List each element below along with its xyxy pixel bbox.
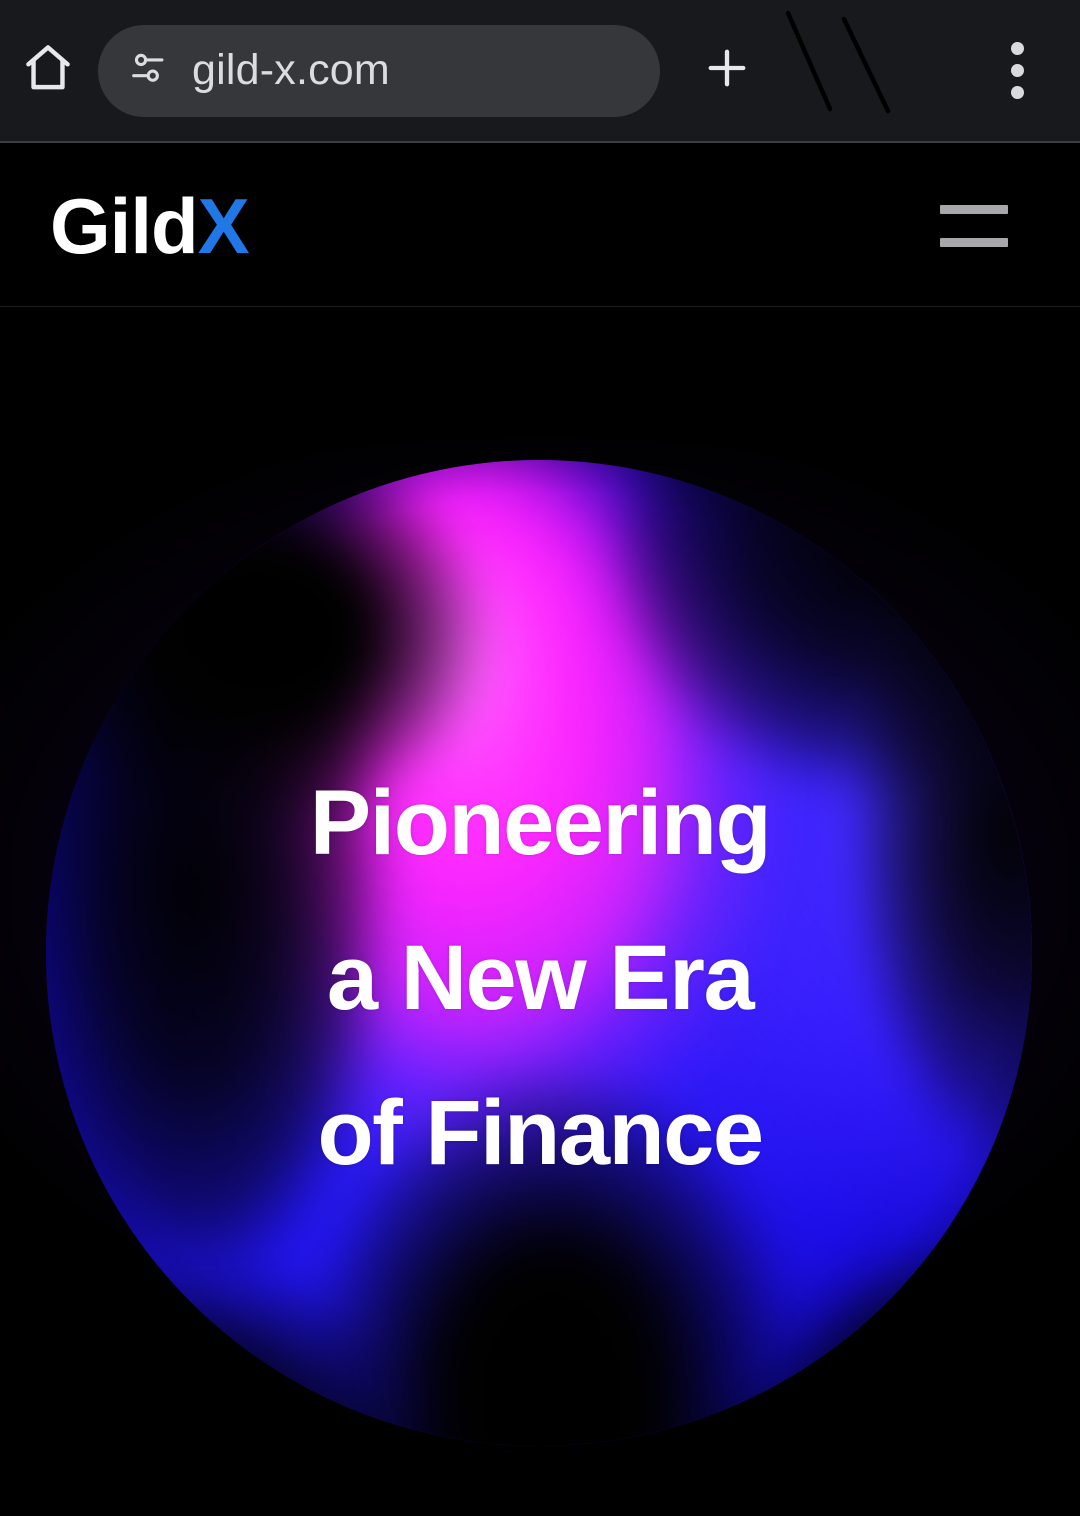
toolbar-right-group [660,0,1080,142]
gradient-globe [46,460,1032,1446]
menu-dot [1011,86,1024,99]
hero-section: Pioneering a New Era of Finance [0,308,1080,1516]
site-logo[interactable]: GildX [50,187,249,265]
browser-overflow-menu-button[interactable] [972,0,1062,142]
globe-limb-darkening [46,460,1032,1446]
home-icon [20,40,76,101]
new-tab-button[interactable] [682,0,772,142]
tab-switcher-strokes-icon [772,129,912,146]
address-bar[interactable]: gild-x.com [98,25,660,117]
hamburger-menu-icon[interactable] [940,196,1012,256]
site-header: GildX [0,145,1080,307]
logo-text-accent: X [198,182,249,270]
browser-toolbar: gild-x.com [0,0,1080,143]
page-info-tune-icon[interactable] [126,46,170,95]
hamburger-bar [940,238,1008,247]
address-bar-url[interactable]: gild-x.com [192,46,390,95]
menu-dot [1011,42,1024,55]
plus-icon [701,42,753,99]
tab-switcher-button[interactable] [772,0,912,142]
logo-text-primary: Gild [50,182,198,270]
home-button[interactable] [0,0,96,142]
menu-dot [1011,64,1024,77]
hamburger-bar [940,205,1008,214]
three-dots-vertical-icon [1011,42,1024,99]
